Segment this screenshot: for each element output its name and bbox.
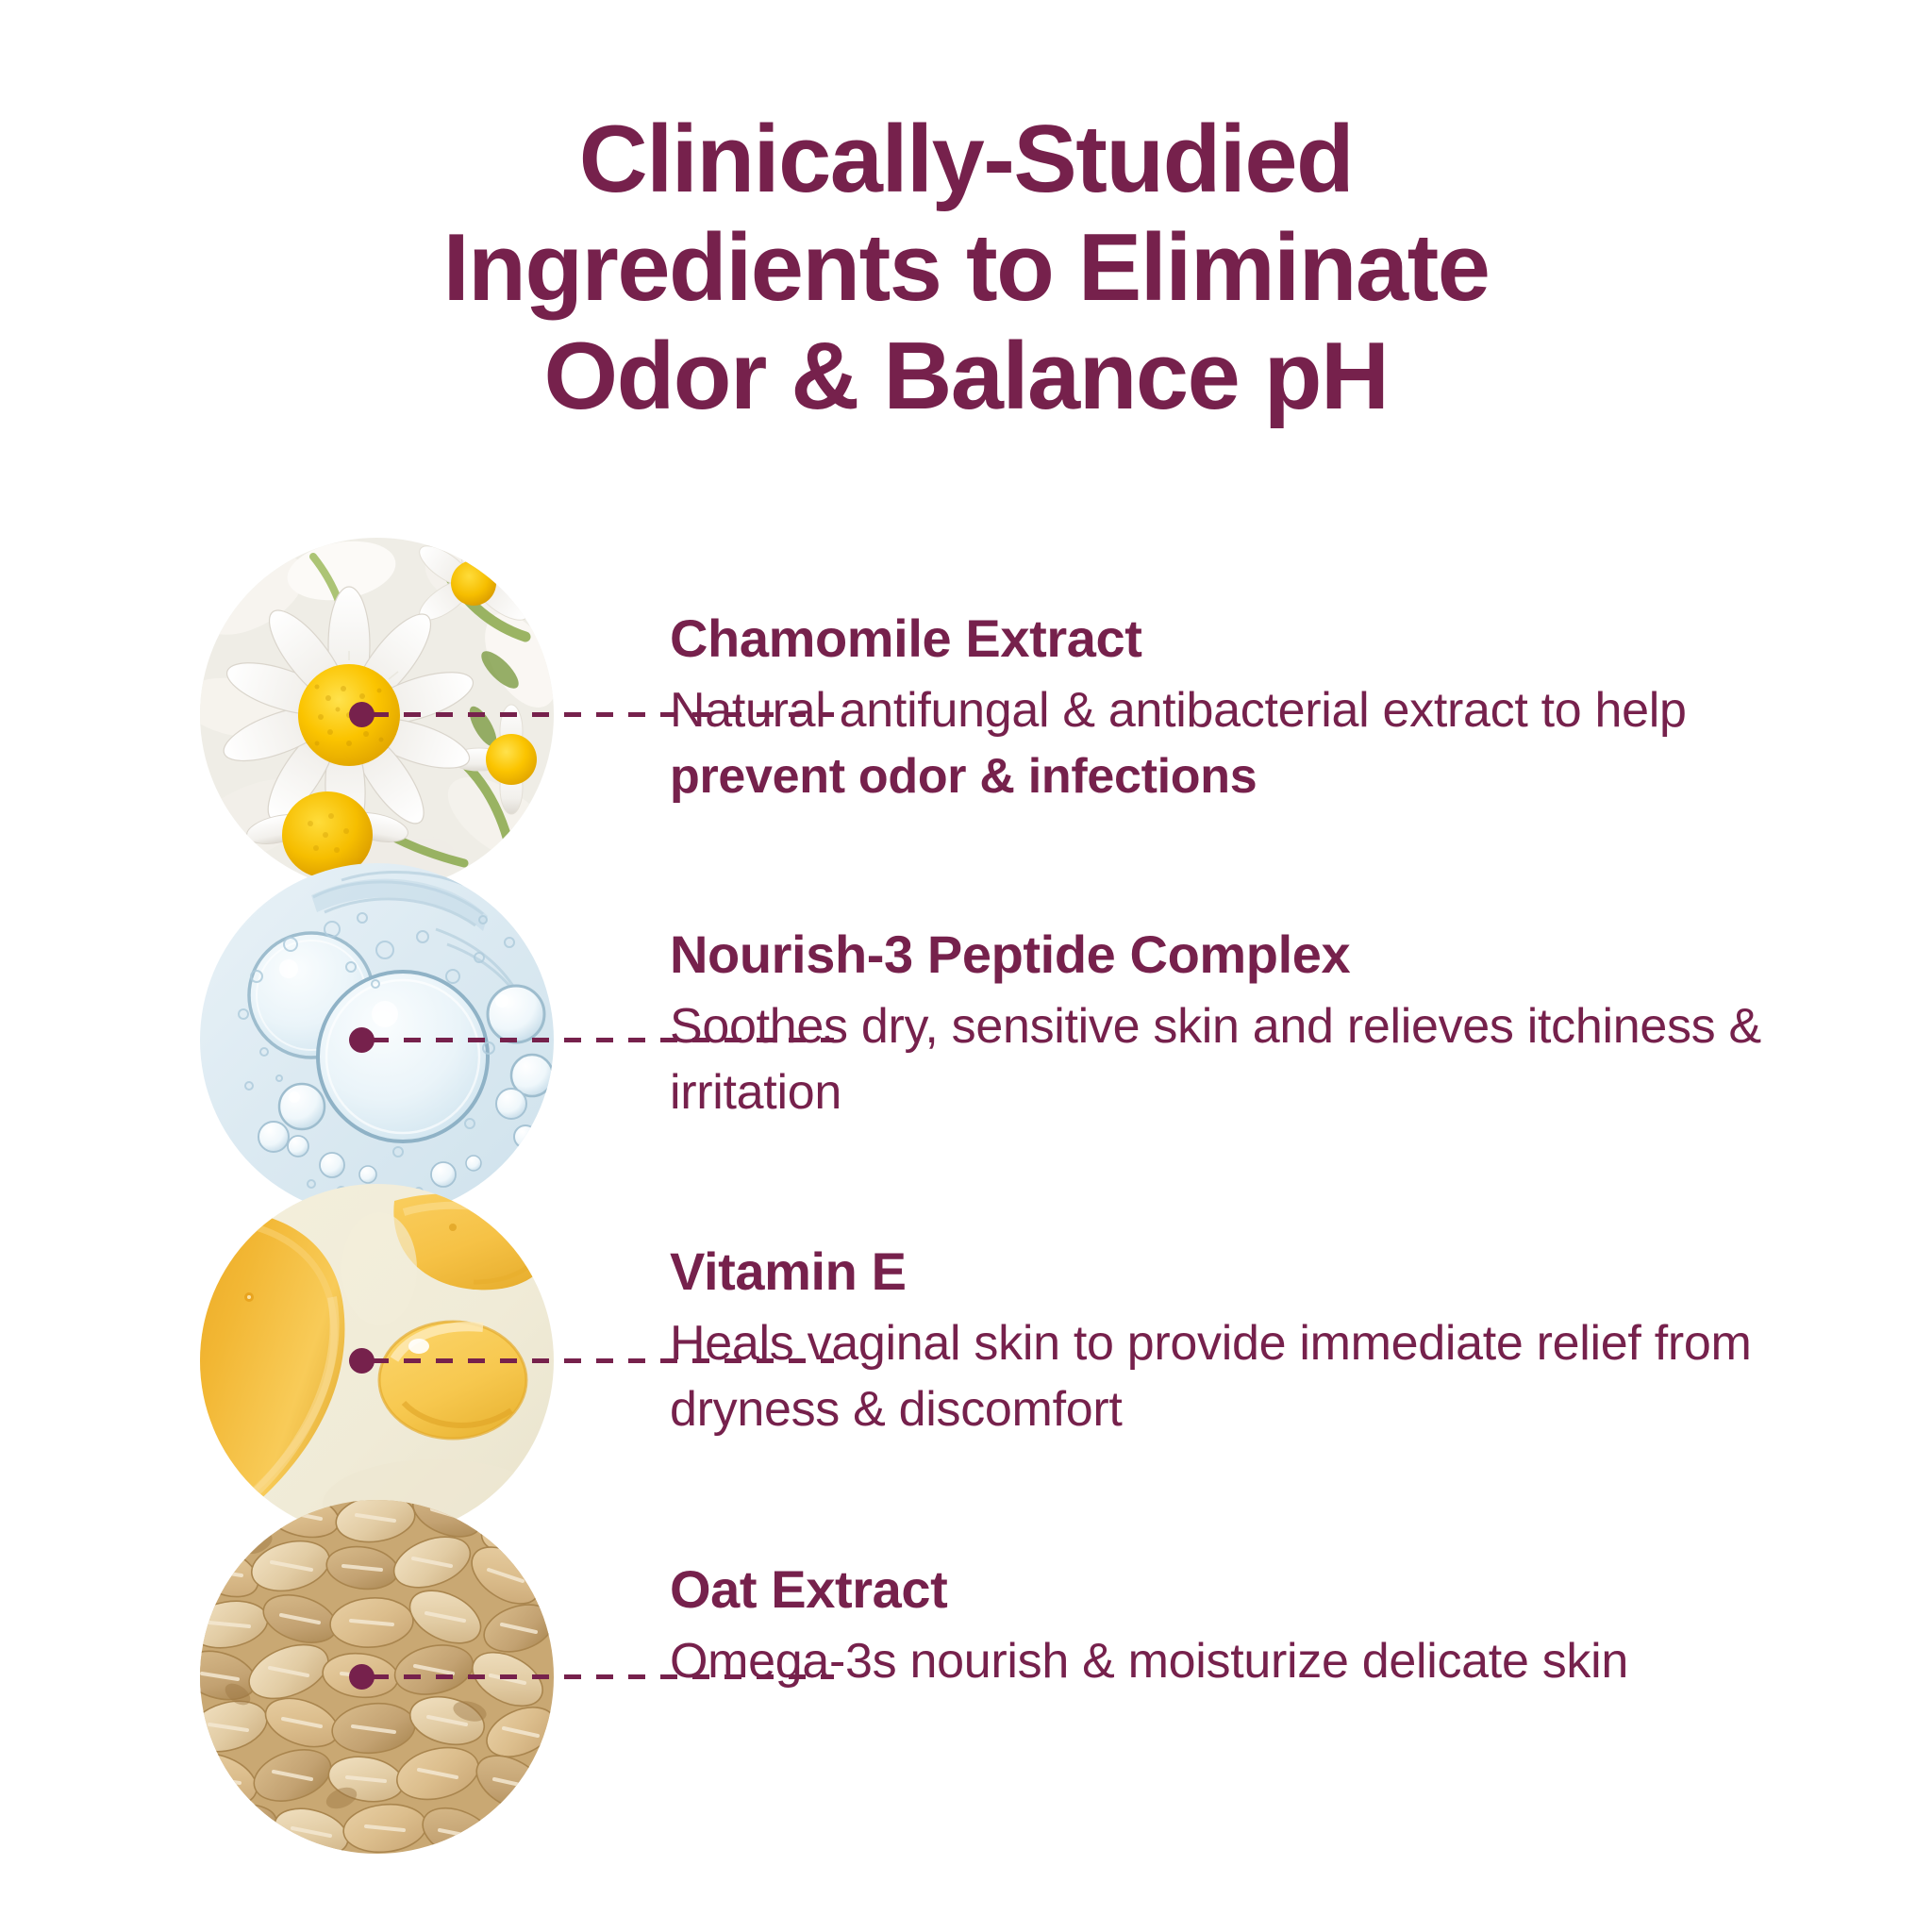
connector-line bbox=[372, 1358, 834, 1363]
connector-line bbox=[372, 1674, 834, 1679]
connector-line bbox=[372, 1038, 834, 1042]
ingredient-description-bold: prevent odor & infections bbox=[670, 749, 1257, 804]
ingredient-description: Natural antifungal & antibacterial extra… bbox=[670, 677, 1868, 809]
ingredient-list: Chamomile Extract Natural antifungal & a… bbox=[0, 0, 1932, 1932]
connector-dot bbox=[349, 702, 375, 727]
ingredient-description-lead: Natural antifungal & antibacterial extra… bbox=[670, 683, 1687, 738]
ingredient-text-oat: Oat Extract Omega-3s nourish & moisturiz… bbox=[670, 1557, 1868, 1694]
ingredient-image-oat bbox=[200, 1500, 554, 1854]
ingredient-text-vitamin-e: Vitamin E Heals vaginal skin to provide … bbox=[670, 1239, 1868, 1442]
ingredient-image-peptide bbox=[200, 863, 554, 1217]
ingredient-text-chamomile: Chamomile Extract Natural antifungal & a… bbox=[670, 606, 1868, 809]
ingredient-image-vitamin-e bbox=[200, 1184, 554, 1538]
connector-dot bbox=[349, 1348, 375, 1374]
infographic-page: Clinically-Studied Ingredients to Elimin… bbox=[0, 0, 1932, 1932]
ingredient-text-peptide: Nourish-3 Peptide Complex Soothes dry, s… bbox=[670, 922, 1868, 1125]
ingredient-description: Omega-3s nourish & moisturize delicate s… bbox=[670, 1628, 1868, 1694]
connector-dot bbox=[349, 1664, 375, 1690]
ingredient-title: Nourish-3 Peptide Complex bbox=[670, 922, 1868, 988]
ingredient-title: Vitamin E bbox=[670, 1239, 1868, 1305]
connector-line bbox=[372, 712, 834, 717]
ingredient-title: Chamomile Extract bbox=[670, 606, 1868, 672]
ingredient-title: Oat Extract bbox=[670, 1557, 1868, 1623]
ingredient-description: Heals vaginal skin to provide immediate … bbox=[670, 1310, 1868, 1442]
ingredient-image-chamomile bbox=[200, 538, 554, 891]
ingredient-description: Soothes dry, sensitive skin and relieves… bbox=[670, 993, 1868, 1125]
connector-dot bbox=[349, 1027, 375, 1053]
